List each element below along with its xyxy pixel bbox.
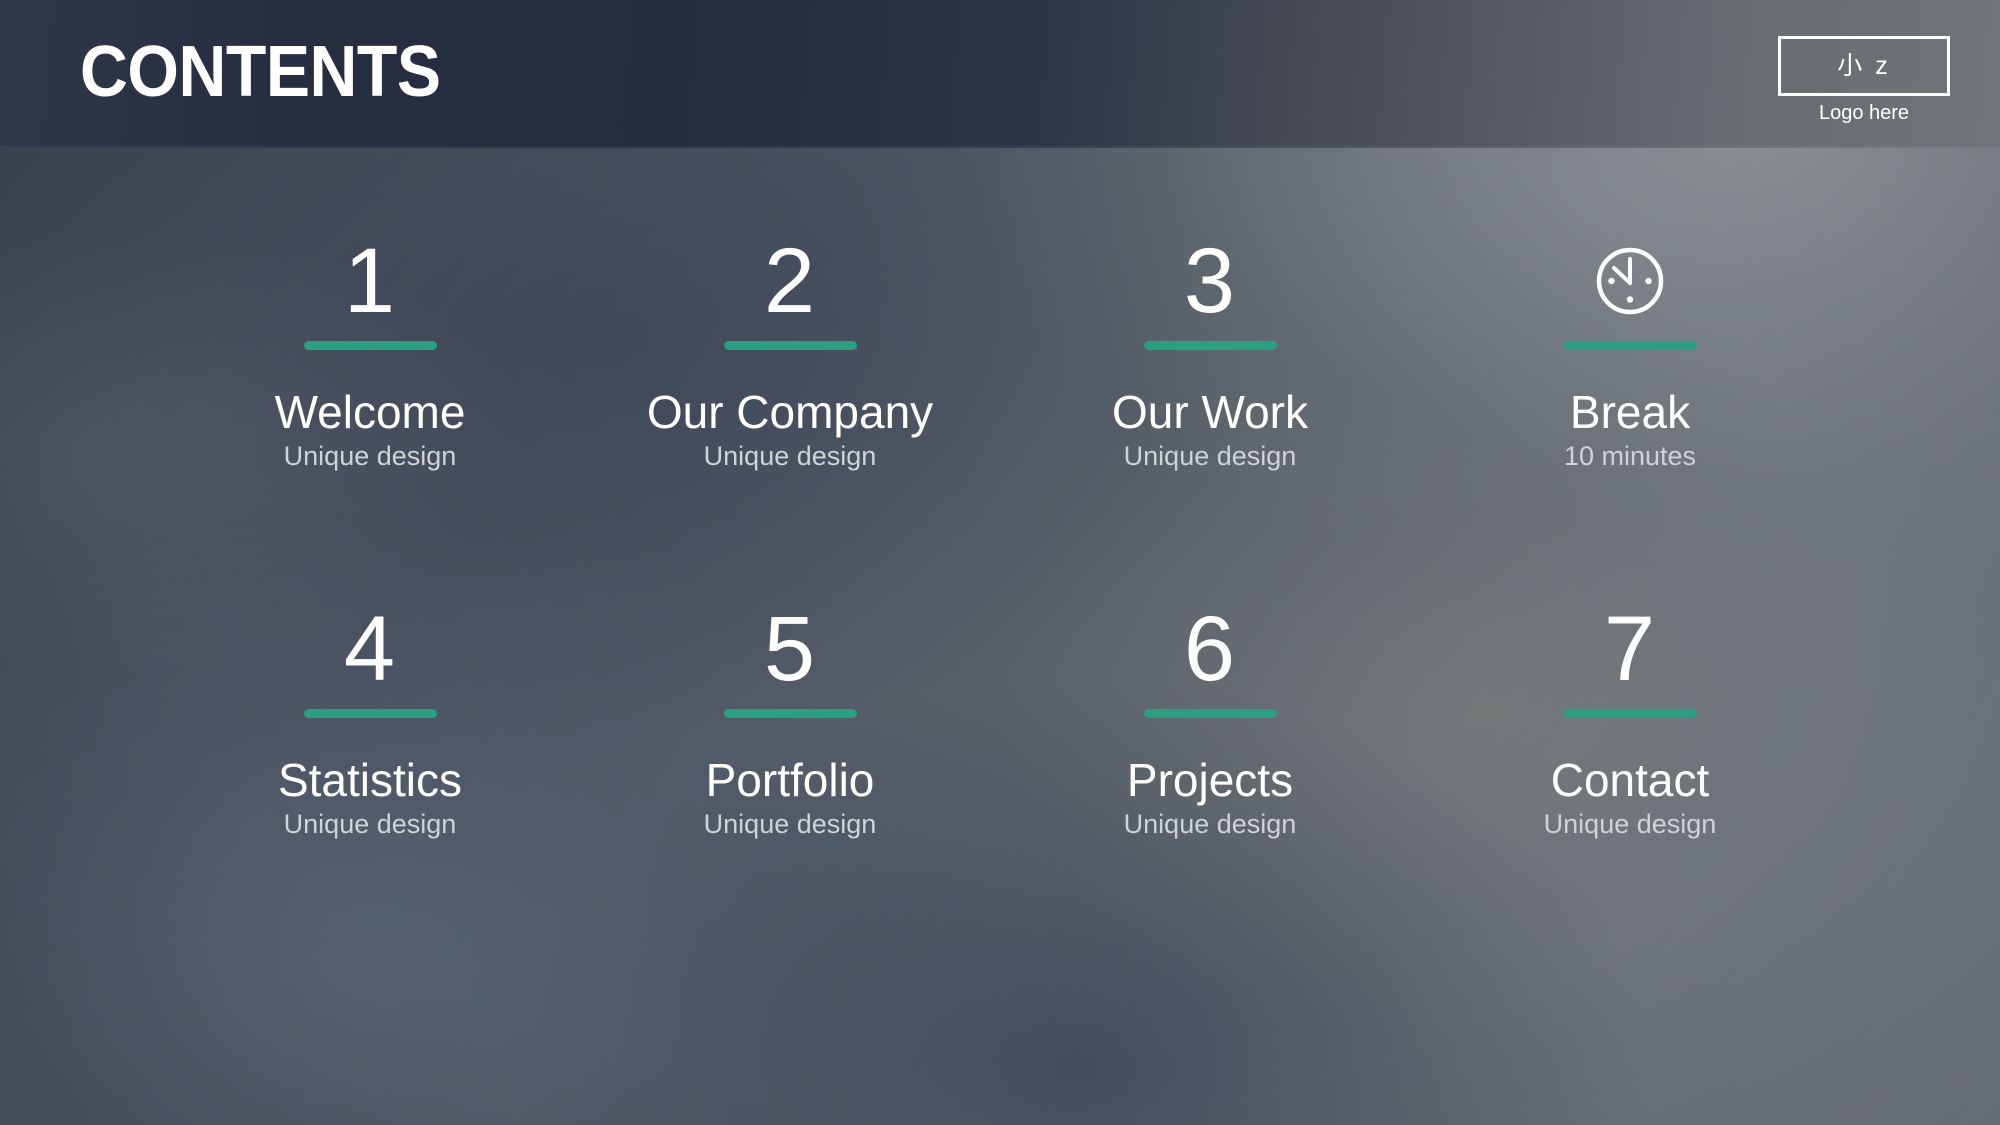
contents-item-projects[interactable]: 6 Projects Unique design	[1000, 606, 1420, 896]
item-title: Statistics	[278, 756, 462, 804]
item-subtitle: Unique design	[1124, 442, 1297, 472]
item-underline	[724, 709, 857, 718]
contents-item-welcome[interactable]: 1 Welcome Unique design	[160, 238, 580, 528]
contents-item-break[interactable]: Break 10 minutes	[1420, 238, 1840, 528]
item-title: Break	[1570, 388, 1690, 436]
logo-box: 小 z	[1778, 36, 1950, 96]
item-underline	[724, 341, 857, 350]
item-subtitle: Unique design	[1544, 810, 1717, 840]
item-underline	[304, 709, 437, 718]
contents-item-our-company[interactable]: 2 Our Company Unique design	[580, 238, 1000, 528]
presentation-slide: CONTENTS 小 z Logo here 1 Welcome Unique …	[0, 0, 2000, 1125]
contents-item-statistics[interactable]: 4 Statistics Unique design	[160, 606, 580, 896]
logo-placeholder[interactable]: 小 z Logo here	[1778, 36, 1950, 124]
item-number: 1	[344, 238, 396, 324]
item-number: 4	[344, 606, 396, 692]
item-subtitle: 10 minutes	[1564, 442, 1696, 472]
item-underline	[1564, 341, 1697, 350]
item-underline	[1144, 709, 1277, 718]
item-underline	[1564, 709, 1697, 718]
item-title: Our Company	[647, 388, 933, 436]
item-title: Our Work	[1112, 388, 1308, 436]
item-subtitle: Unique design	[704, 442, 877, 472]
item-subtitle: Unique design	[284, 810, 457, 840]
item-underline	[1144, 341, 1277, 350]
item-number: 3	[1184, 238, 1236, 324]
item-subtitle: Unique design	[1124, 810, 1297, 840]
item-number: 5	[764, 606, 816, 692]
item-underline	[304, 341, 437, 350]
item-title: Contact	[1551, 756, 1710, 804]
contents-grid: 1 Welcome Unique design 2 Our Company Un…	[160, 238, 1840, 896]
contents-item-our-work[interactable]: 3 Our Work Unique design	[1000, 238, 1420, 528]
logo-mark-text: 小 z	[1837, 54, 1890, 79]
contents-item-portfolio[interactable]: 5 Portfolio Unique design	[580, 606, 1000, 896]
item-subtitle: Unique design	[704, 810, 877, 840]
contents-item-contact[interactable]: 7 Contact Unique design	[1420, 606, 1840, 896]
logo-caption: Logo here	[1778, 102, 1950, 124]
item-title: Portfolio	[706, 756, 875, 804]
page-title: CONTENTS	[80, 36, 441, 108]
item-number: 7	[1604, 606, 1656, 692]
item-title: Welcome	[275, 388, 466, 436]
item-number: 6	[1184, 606, 1236, 692]
clock-icon	[1591, 238, 1669, 324]
item-number: 2	[764, 238, 816, 324]
item-title: Projects	[1127, 756, 1293, 804]
item-subtitle: Unique design	[284, 442, 457, 472]
